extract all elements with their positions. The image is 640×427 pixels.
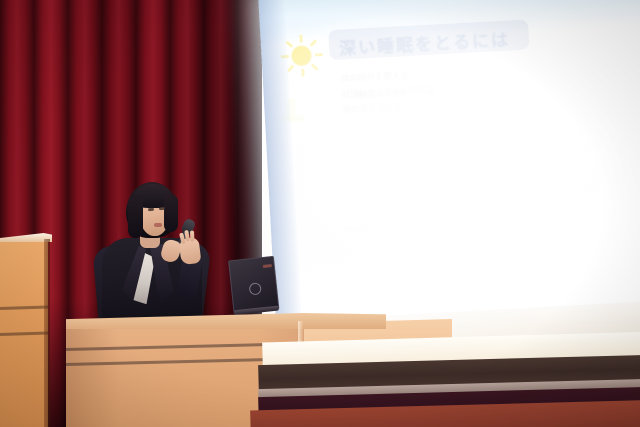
projection-screen: 深い睡眠をとるには 体内時計を整える 就寝前のスマホを控える 朝の光を浴びる 規… <box>258 0 640 322</box>
presenter-hair-side-left <box>128 196 143 238</box>
presentation-photo-scene: 深い睡眠をとるには 体内時計を整える 就寝前のスマホを控える 朝の光を浴びる 規… <box>0 0 640 427</box>
side-lectern <box>0 233 52 427</box>
presenter-gesturing-hand <box>178 237 201 265</box>
side-lectern-edge <box>44 239 50 427</box>
screen-overexposure <box>258 0 640 322</box>
presenter-mouth <box>154 223 162 227</box>
presenter-laptop <box>228 256 280 318</box>
presenter-hair-side-right <box>164 194 178 232</box>
podium-top-surface <box>66 313 386 329</box>
laptop-port <box>263 264 272 267</box>
presenter-head <box>126 182 178 244</box>
circle-logo-icon <box>249 282 262 295</box>
presenter <box>96 176 212 331</box>
